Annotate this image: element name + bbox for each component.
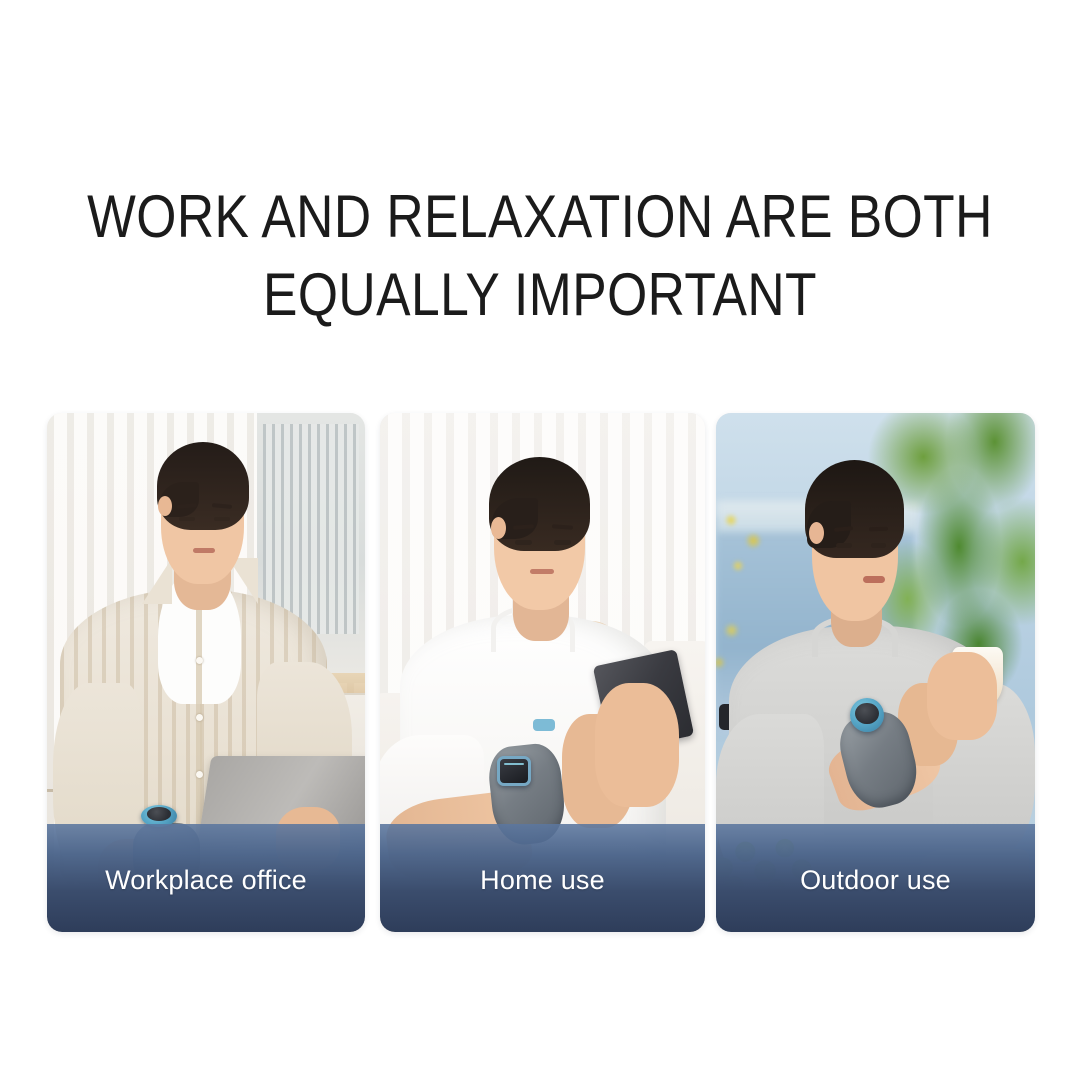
person-eye-left [179, 517, 195, 521]
person-eye-right [214, 517, 230, 521]
shirt-collar-left [142, 558, 172, 604]
card-caption-bar-workplace-office: Workplace office [47, 824, 365, 932]
person-hair [157, 442, 249, 530]
person-eye-left [515, 540, 532, 545]
page-title-line-2: EQUALLY IMPORTANT [76, 256, 1005, 334]
wrist-massager-strap-tab [533, 719, 555, 731]
use-case-card-home-use[interactable]: Home use [380, 413, 705, 932]
person-hair [805, 460, 904, 559]
person-eye-right [871, 543, 886, 548]
use-case-card-workplace-office[interactable]: Workplace office [47, 413, 365, 932]
person-mouth [863, 576, 885, 583]
person-ear [491, 517, 506, 539]
page-title-line-1: WORK AND RELAXATION ARE BOTH [76, 178, 1005, 256]
person-eyebrow-right [552, 524, 573, 529]
use-case-card-list: Workplace office [0, 413, 1080, 933]
card-caption-label: Workplace office [105, 865, 307, 896]
person-hand-right [927, 652, 997, 740]
person-mouth [193, 548, 215, 553]
card-caption-label: Home use [480, 865, 605, 896]
person-mouth [530, 569, 554, 574]
card-caption-bar-home-use: Home use [380, 824, 705, 932]
person-hand-right [595, 683, 680, 808]
person-ear [809, 522, 824, 544]
yellow-flowers-upper [716, 486, 780, 600]
use-case-card-outdoor-use[interactable]: Outdoor use [716, 413, 1035, 932]
person-hair [489, 457, 590, 550]
person-eye-right [554, 540, 571, 545]
person-eye-left [836, 543, 852, 548]
card-caption-label: Outdoor use [800, 865, 951, 896]
page-title: WORK AND RELAXATION ARE BOTH EQUALLY IMP… [76, 178, 1005, 334]
card-caption-bar-outdoor-use: Outdoor use [716, 824, 1035, 932]
wrist-massager-display [497, 756, 531, 786]
promo-page: WORK AND RELAXATION ARE BOTH EQUALLY IMP… [0, 0, 1080, 1080]
